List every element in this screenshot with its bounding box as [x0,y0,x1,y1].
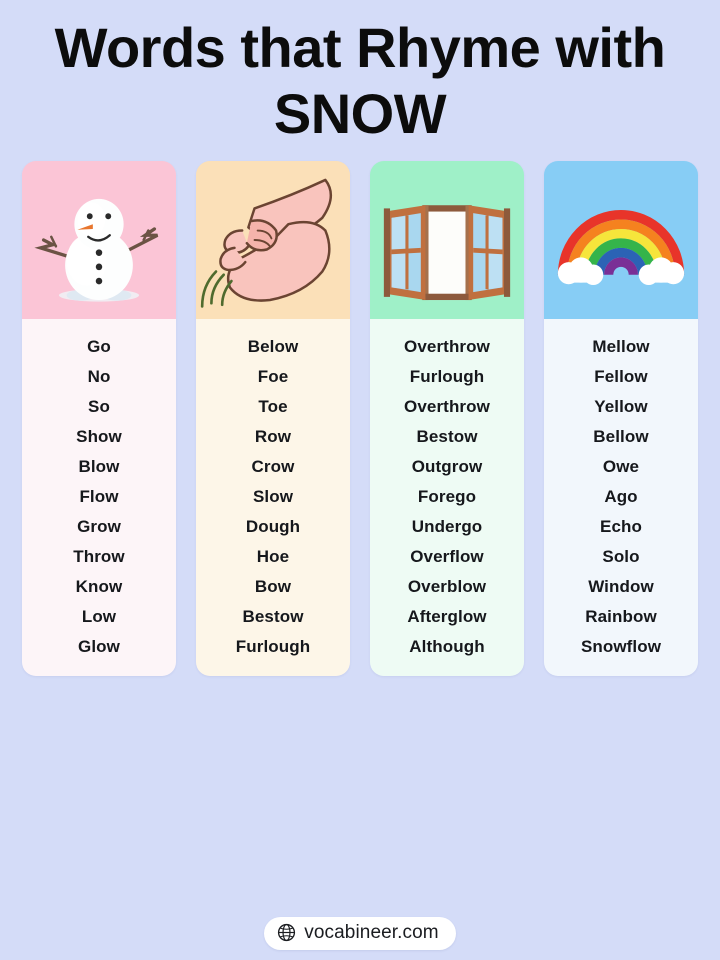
brand-text: vocabineer.com [304,922,438,944]
word-item: Throw [26,542,172,572]
word-item: Glow [26,632,172,662]
word-item: Outgrow [374,452,520,482]
word-item: Show [26,422,172,452]
column-2-words: Below Foe Toe Row Crow Slow Dough Hoe Bo… [196,319,350,676]
word-item: Flow [26,482,172,512]
word-item: Crow [200,452,346,482]
column-4-words: Mellow Fellow Yellow Bellow Owe Ago Echo… [544,319,698,676]
footer: vocabineer.com [0,906,720,960]
infographic-page: Words that Rhyme with SNOW [0,0,720,960]
word-item: Bestow [200,602,346,632]
page-title: Words that Rhyme with SNOW [0,0,720,145]
word-item: Foe [200,362,346,392]
column-3-image [370,161,524,319]
word-column-3: Overthrow Furlough Overthrow Bestow Outg… [370,161,524,676]
word-item: Know [26,572,172,602]
word-columns: Go No So Show Blow Flow Grow Throw Know … [0,161,720,906]
title-line-2: SNOW [0,84,720,144]
snowman-icon [22,161,176,319]
word-item: Solo [548,542,694,572]
column-3-words: Overthrow Furlough Overthrow Bestow Outg… [370,319,524,676]
column-4-image [544,161,698,319]
word-item: No [26,362,172,392]
column-1-image [22,161,176,319]
word-item: Go [26,332,172,362]
word-item: Furlough [374,362,520,392]
word-item: So [26,392,172,422]
word-item: Bellow [548,422,694,452]
word-column-1: Go No So Show Blow Flow Grow Throw Know … [22,161,176,676]
column-1-words: Go No So Show Blow Flow Grow Throw Know … [22,319,176,676]
title-line-1: Words that Rhyme with [0,18,720,78]
word-item: Owe [548,452,694,482]
word-item: Mellow [548,332,694,362]
word-item: Blow [26,452,172,482]
word-item: Although [374,632,520,662]
word-item: Ago [548,482,694,512]
brand-badge[interactable]: vocabineer.com [264,917,455,950]
word-column-4: Mellow Fellow Yellow Bellow Owe Ago Echo… [544,161,698,676]
word-item: Low [26,602,172,632]
hand-touching-toe-icon [196,161,350,319]
word-item: Rainbow [548,602,694,632]
word-item: Yellow [548,392,694,422]
word-item: Slow [200,482,346,512]
word-item: Bestow [374,422,520,452]
word-item: Overthrow [374,332,520,362]
word-item: Row [200,422,346,452]
word-item: Dough [200,512,346,542]
word-item: Below [200,332,346,362]
word-item: Overblow [374,572,520,602]
word-item: Toe [200,392,346,422]
rainbow-icon [544,161,698,319]
word-item: Overflow [374,542,520,572]
word-column-2: Below Foe Toe Row Crow Slow Dough Hoe Bo… [196,161,350,676]
word-item: Overthrow [374,392,520,422]
globe-icon [277,923,296,942]
word-item: Undergo [374,512,520,542]
word-item: Fellow [548,362,694,392]
word-item: Grow [26,512,172,542]
open-window-icon [370,161,524,319]
word-item: Hoe [200,542,346,572]
word-item: Window [548,572,694,602]
word-item: Afterglow [374,602,520,632]
word-item: Bow [200,572,346,602]
word-item: Furlough [200,632,346,662]
word-item: Echo [548,512,694,542]
word-item: Snowflow [548,632,694,662]
column-2-image [196,161,350,319]
word-item: Forego [374,482,520,512]
